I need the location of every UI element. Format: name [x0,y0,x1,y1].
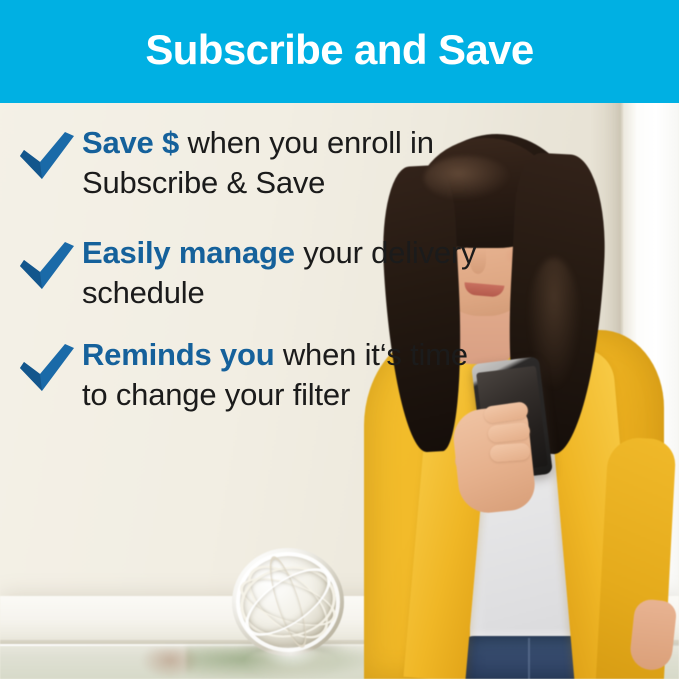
blue-checkmark-icon [18,341,76,397]
list-item-text: Easily manage your delivery schedule [82,233,500,313]
sphere-reflection [244,648,338,679]
list-item: Save $ when you enroll in Subscribe & Sa… [18,123,500,203]
list-item-text: Reminds you when it‘s time to change you… [82,335,500,415]
jeans-seam [528,638,530,679]
blue-checkmark-icon [18,129,76,185]
page-title: Subscribe and Save [145,29,533,75]
decorative-woven-sphere [232,548,344,656]
list-item: Reminds you when it‘s time to change you… [18,335,500,415]
finger [489,443,530,463]
list-item-highlight: Easily manage [82,235,295,270]
header-band: Subscribe and Save [0,0,679,103]
list-item-text: Save $ when you enroll in Subscribe & Sa… [82,123,500,203]
hand-resting [628,598,677,672]
glass-warm-reflection [140,648,200,679]
list-item-highlight: Reminds you [82,337,274,372]
blue-checkmark-icon [18,239,76,295]
list-item: Easily manage your delivery schedule [18,233,500,313]
list-item-highlight: Save $ [82,125,179,160]
subscribe-and-save-banner: Subscribe and Save Save $ when you enrol… [0,0,679,679]
